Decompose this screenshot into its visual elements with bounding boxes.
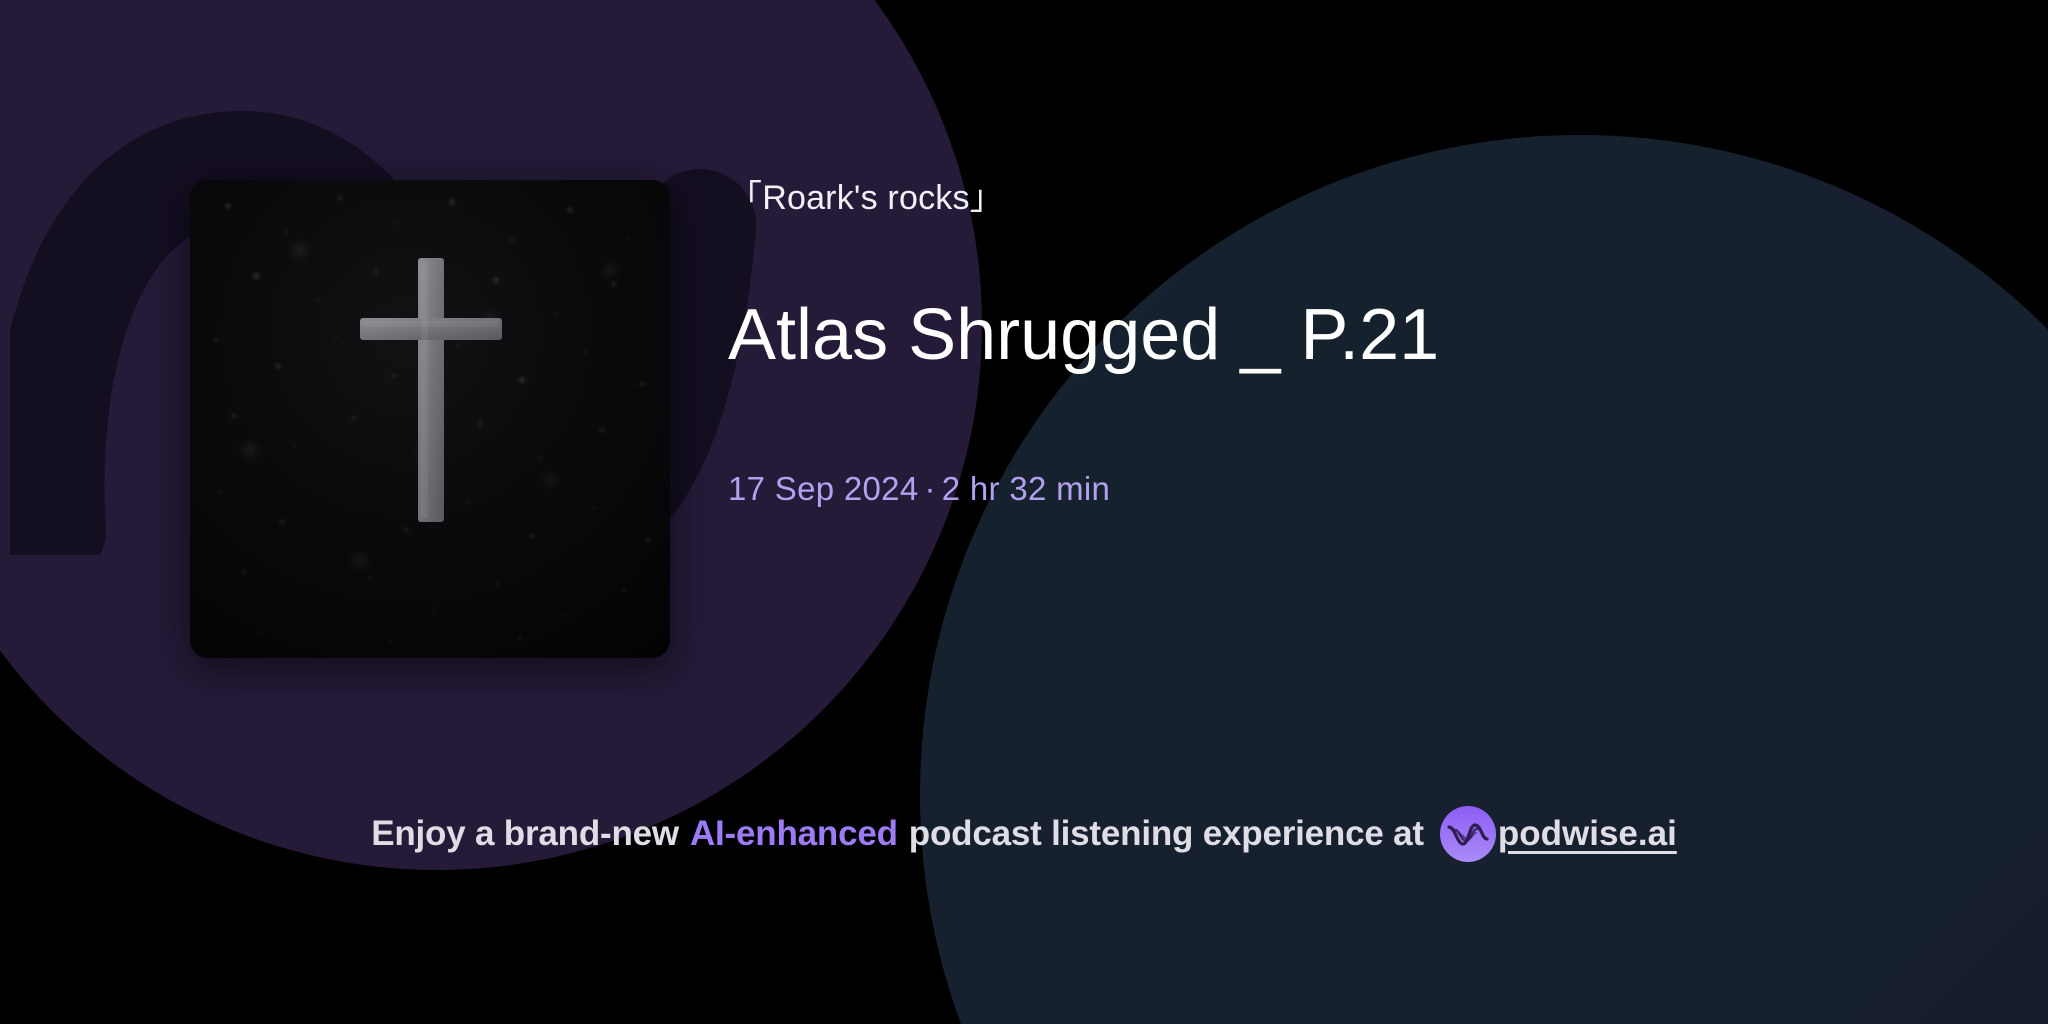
episode-info: 「Roark's rocks」 Atlas Shrugged _ P.21 17… (728, 180, 1908, 658)
episode-title: Atlas Shrugged _ P.21 (728, 295, 1439, 376)
promo-footer: Enjoy a brand-new AI-enhanced podcast li… (0, 806, 2048, 862)
episode-meta: 17 Sep 2024·2 hr 32 min (728, 470, 1110, 508)
episode-date: 17 Sep 2024 (728, 470, 918, 507)
episode-artwork (190, 180, 670, 658)
podwise-logo-icon (1440, 806, 1496, 862)
episode-duration: 2 hr 32 min (942, 470, 1110, 507)
promo-highlight: AI-enhanced (690, 814, 898, 854)
share-card: 「Roark's rocks」 Atlas Shrugged _ P.21 17… (0, 0, 2048, 1024)
meta-separator: · (918, 470, 941, 507)
podwise-brand-name[interactable]: podwise.ai (1498, 814, 1677, 854)
show-title: 「Roark's rocks」 (728, 180, 1908, 217)
promo-text-after: podcast listening experience at (909, 814, 1424, 854)
promo-text-before: Enjoy a brand-new (371, 814, 679, 854)
podwise-brand-link[interactable]: podwise.ai (1440, 806, 1677, 862)
